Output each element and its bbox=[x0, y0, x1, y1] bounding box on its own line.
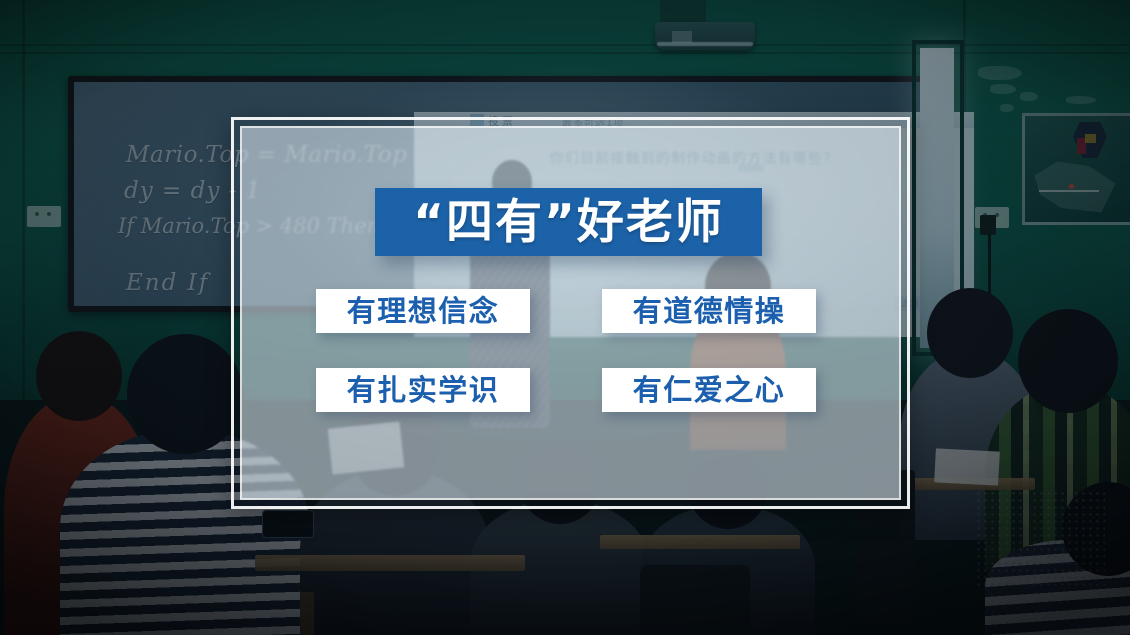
overlay-chip-3: 有扎实学识 bbox=[316, 368, 530, 412]
overlay-chip-4: 有仁爱之心 bbox=[602, 368, 816, 412]
paper-sheet-right bbox=[934, 448, 1000, 485]
student-orange-head bbox=[36, 331, 122, 421]
student-gray-shirt-head bbox=[927, 288, 1013, 378]
overlay-chip-3-label: 有扎实学识 bbox=[347, 376, 500, 405]
phone-device bbox=[262, 510, 314, 538]
overlay-title-banner: “四有”好老师 bbox=[375, 188, 762, 256]
chair-mesh-right bbox=[975, 490, 1105, 590]
overlay-chip-2: 有道德情操 bbox=[602, 289, 816, 333]
overlay-title-text: “四有”好老师 bbox=[413, 199, 724, 246]
overlay-chip-4-label: 有仁爱之心 bbox=[633, 376, 786, 405]
student-plaid-head bbox=[1018, 309, 1118, 413]
overlay-chip-1-label: 有理想信念 bbox=[347, 297, 500, 326]
overlay-chip-1: 有理想信念 bbox=[316, 289, 530, 333]
student-striped-left-head bbox=[127, 334, 243, 454]
desk-front-left bbox=[255, 555, 525, 571]
screenshot-stage: Mario.Top = Mario.Top - dy dy = dy - 1 I… bbox=[0, 0, 1130, 635]
overlay-chip-2-label: 有道德情操 bbox=[633, 297, 786, 326]
chair-back-middle bbox=[640, 565, 750, 635]
desk-front-middle bbox=[600, 535, 800, 549]
desk-leg bbox=[300, 592, 314, 635]
graphic-overlay: “四有”好老师 有理想信念 有道德情操 有扎实学识 有仁爱之心 bbox=[231, 117, 910, 509]
